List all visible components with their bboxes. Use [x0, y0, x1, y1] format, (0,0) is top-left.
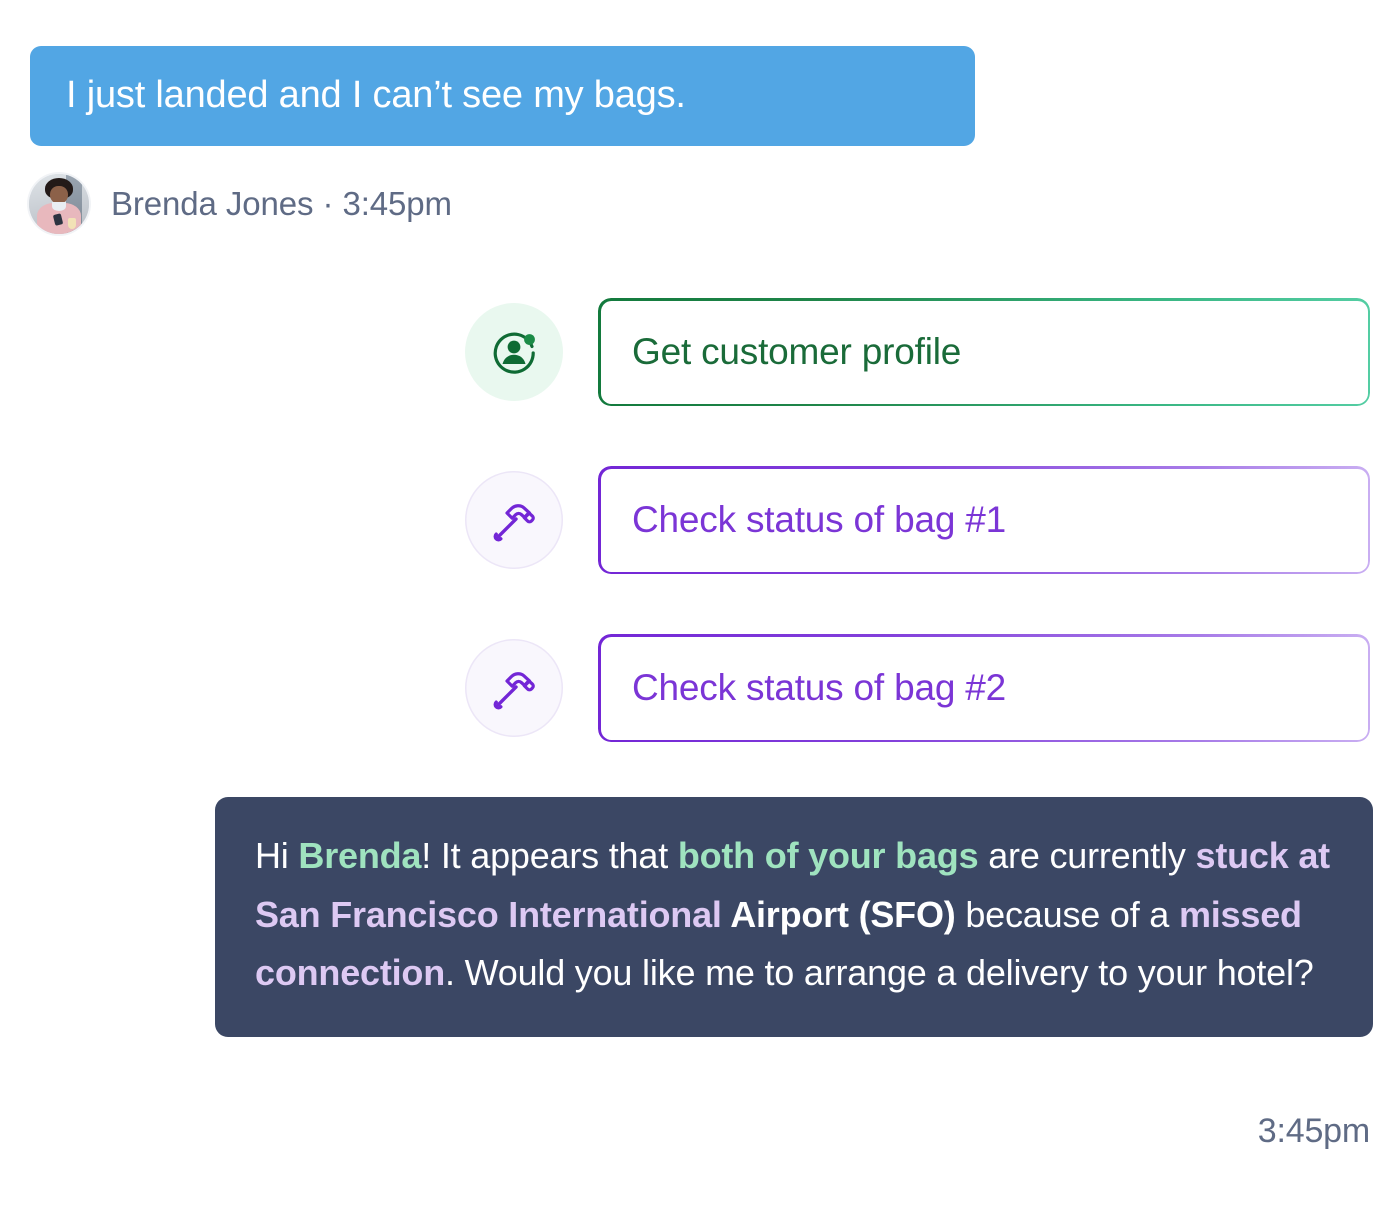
assistant-message-text: Hi Brenda! It appears that both of your … [255, 827, 1333, 1003]
action-row-check-bag-1[interactable]: Check status of bag #1 [465, 466, 1370, 574]
hammer-tool-icon [465, 471, 563, 569]
action-button-check-bag-1[interactable]: Check status of bag #1 [598, 466, 1370, 574]
action-label: Get customer profile [632, 331, 961, 373]
action-row-check-bag-2[interactable]: Check status of bag #2 [465, 634, 1370, 742]
action-label: Check status of bag #2 [632, 667, 1006, 709]
action-row-get-customer-profile[interactable]: Get customer profile [465, 298, 1370, 406]
action-button-get-customer-profile[interactable]: Get customer profile [598, 298, 1370, 406]
sender-name-and-time: Brenda Jones · 3:45pm [111, 185, 452, 223]
customer-profile-icon [465, 303, 563, 401]
avatar [29, 174, 89, 234]
user-message-text: I just landed and I can’t see my bags. [66, 75, 686, 117]
chat-transcript: I just landed and I can’t see my bags. B… [0, 0, 1398, 1209]
assistant-message-bubble: Hi Brenda! It appears that both of your … [215, 797, 1373, 1037]
message-timestamp: 3:45pm [1258, 1112, 1370, 1151]
avatar-cup [68, 218, 76, 228]
user-message-bubble: I just landed and I can’t see my bags. [30, 46, 975, 146]
action-button-check-bag-2[interactable]: Check status of bag #2 [598, 634, 1370, 742]
message-sender-row: Brenda Jones · 3:45pm [29, 174, 452, 234]
hammer-tool-icon [465, 639, 563, 737]
action-label: Check status of bag #1 [632, 499, 1006, 541]
